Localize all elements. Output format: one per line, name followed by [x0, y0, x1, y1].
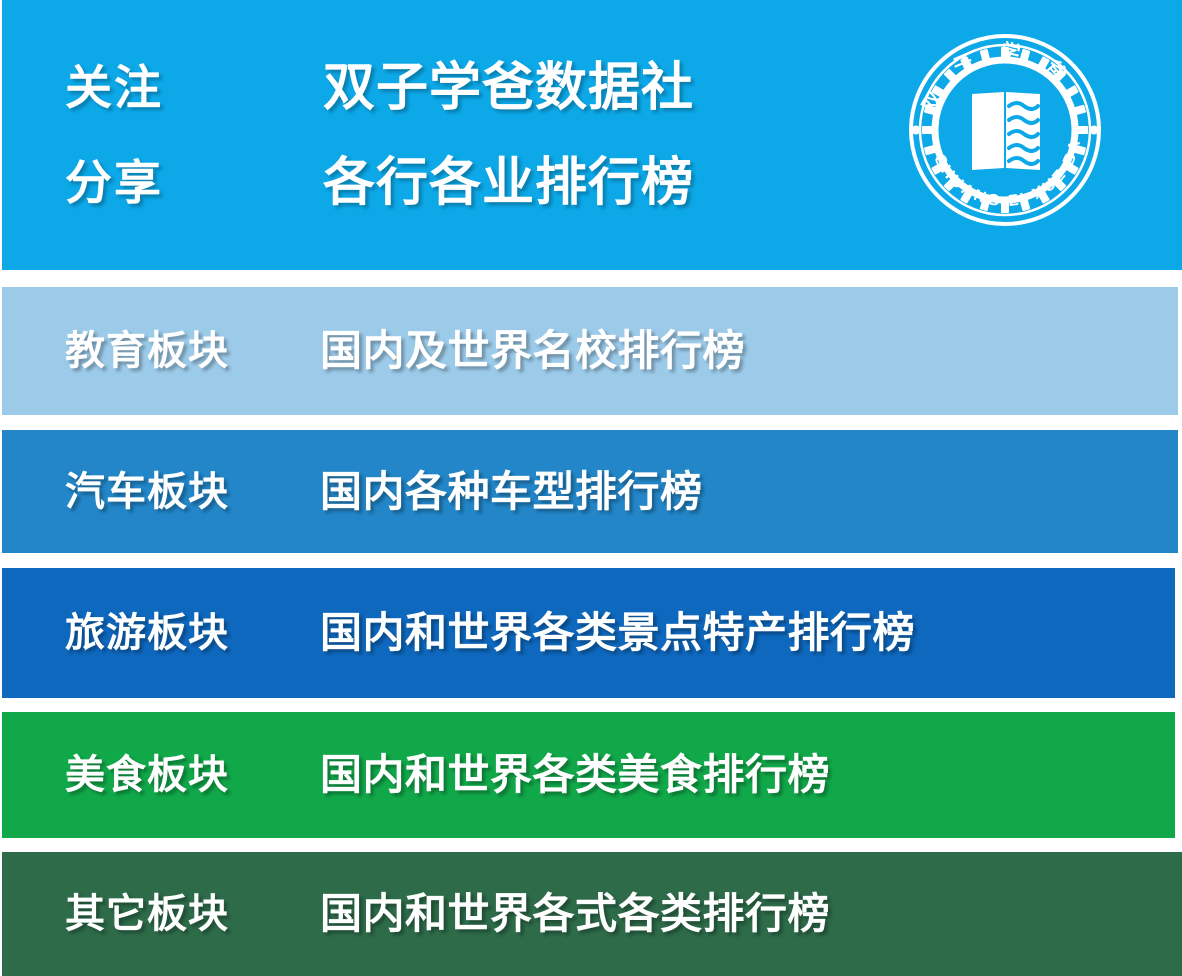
- section-band-travel[interactable]: 旅游板块 国内和世界各类景点特产排行榜: [2, 568, 1175, 698]
- section-description-travel: 国内和世界各类景点特产排行榜: [320, 612, 1175, 654]
- section-band-automotive[interactable]: 汽车板块 国内各种车型排行榜: [2, 430, 1178, 553]
- share-label: 分享: [65, 159, 323, 206]
- section-band-other[interactable]: 其它板块 国内和世界各式各类排行榜: [2, 852, 1182, 976]
- section-label-travel: 旅游板块: [65, 613, 320, 653]
- header-row-follow: 关注 双子学爸数据社: [65, 48, 865, 128]
- section-label-automotive: 汽车板块: [65, 472, 320, 512]
- section-band-education[interactable]: 教育板块 国内及世界名校排行榜: [2, 287, 1178, 415]
- brand-tagline: 各行各业排行榜: [323, 157, 694, 209]
- section-label-other: 其它板块: [65, 894, 320, 934]
- header-text-block: 关注 双子学爸数据社 分享 各行各业排行榜: [65, 40, 865, 230]
- section-description-education: 国内及世界名校排行榜: [320, 330, 1178, 372]
- section-description-other: 国内和世界各式各类排行榜: [320, 893, 1182, 935]
- section-description-automotive: 国内各种车型排行榜: [320, 471, 1178, 513]
- seal-logo-icon: 双子学爸 SHUANG ZI XUE BA: [902, 18, 1108, 234]
- header-row-share: 分享 各行各业排行榜: [65, 143, 865, 223]
- promo-banner: 关注 双子学爸数据社 分享 各行各业排行榜: [0, 0, 1182, 976]
- header-band: 关注 双子学爸数据社 分享 各行各业排行榜: [2, 0, 1182, 270]
- section-label-food: 美食板块: [65, 755, 320, 795]
- section-label-education: 教育板块: [65, 331, 320, 371]
- brand-name: 双子学爸数据社: [323, 62, 694, 114]
- section-description-food: 国内和世界各类美食排行榜: [320, 754, 1175, 796]
- brand-logo: 双子学爸 SHUANG ZI XUE BA: [902, 18, 1108, 234]
- open-book-icon: [972, 92, 1040, 170]
- follow-label: 关注: [65, 64, 323, 111]
- section-band-food[interactable]: 美食板块 国内和世界各类美食排行榜: [2, 712, 1175, 838]
